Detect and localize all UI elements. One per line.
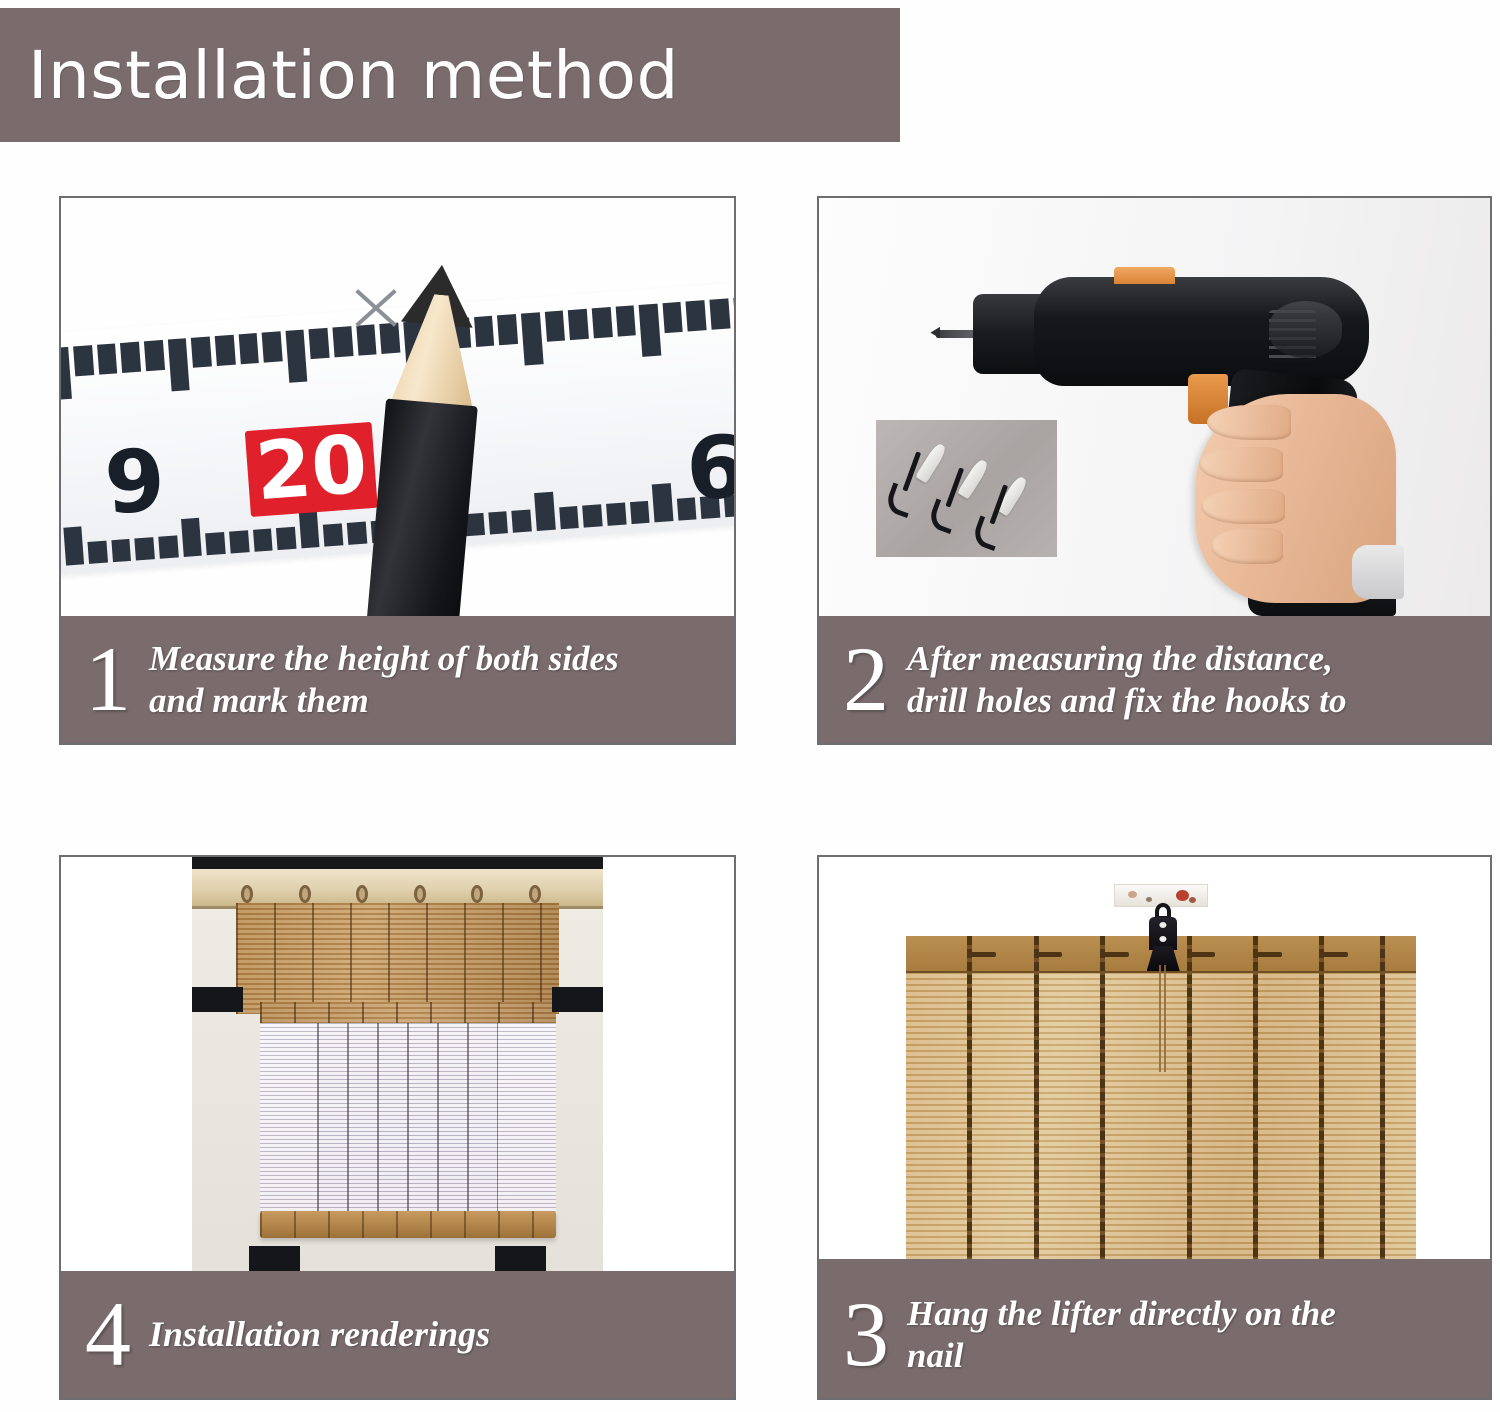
finger: [1199, 447, 1284, 483]
valance-ring: [414, 885, 426, 903]
bamboo-cord-nub: [1322, 952, 1348, 957]
bamboo-cord-nub: [1256, 952, 1282, 957]
step-2-caption-line-1: After measuring the distance,: [907, 638, 1347, 679]
step-3-number: 3: [843, 1292, 889, 1377]
bamboo-cord-nub: [1036, 952, 1062, 957]
step-3-photo-lifter-on-nail: [819, 857, 1490, 1271]
finger: [1207, 405, 1292, 441]
bamboo-cord-nub: [1189, 952, 1215, 957]
tape-measure-scene: 9 20 6: [61, 198, 734, 616]
step-3-caption-bar: 3 Hang the lifter directly on the nail: [819, 1271, 1490, 1398]
drill-orange-top-accent: [1114, 267, 1174, 284]
drill-vents: [1269, 310, 1316, 362]
page-title: Installation method: [0, 37, 679, 114]
lifter-hole: [1160, 936, 1167, 942]
bamboo-cord: [1187, 936, 1192, 1271]
floor-shadow-strip: [819, 1259, 1490, 1271]
step-3-caption-line-2: nail: [907, 1335, 1336, 1376]
reed-blind-bottom-rail: [260, 1211, 556, 1238]
step-1-photo-tape-measure: 9 20 6: [61, 198, 734, 616]
step-card-4: 4 Installation renderings: [59, 855, 736, 1400]
step-4-photo-installed-blind: [61, 857, 734, 1271]
valance-ring: [299, 885, 311, 903]
bamboo-cord: [967, 936, 972, 1271]
hand: [1195, 394, 1396, 603]
drill-body: [1034, 277, 1370, 386]
step-card-3: 3 Hang the lifter directly on the nail: [817, 855, 1492, 1400]
step-card-1: 9 20 6 1 Measure the height of both side…: [59, 196, 736, 745]
lifter-pull-strings: [1159, 965, 1168, 1073]
hooks-and-anchors-inset: [876, 420, 1057, 558]
step-1-number: 1: [85, 637, 131, 722]
step-2-caption-text: After measuring the distance, drill hole…: [907, 638, 1347, 721]
valance-ring: [471, 885, 483, 903]
valance-ring: [356, 885, 368, 903]
lifter-hole: [1160, 922, 1167, 928]
window-frame-block: [192, 987, 242, 1012]
step-3-caption-text: Hang the lifter directly on the nail: [907, 1293, 1336, 1376]
window-frame-block: [552, 987, 602, 1012]
step-card-2: 2 After measuring the distance, drill ho…: [817, 196, 1492, 745]
window-sill-block: [249, 1246, 299, 1271]
reed-blind-upper-section: [236, 903, 559, 1015]
ceiling-shadow: [192, 857, 603, 869]
bamboo-cord: [1380, 936, 1385, 1271]
valance-ring: [529, 885, 541, 903]
tape-number-right: 6: [683, 423, 734, 513]
bamboo-blind-scene: [819, 857, 1490, 1271]
blind-lifter-bracket: [1145, 903, 1181, 969]
bamboo-cord-nub: [970, 952, 996, 957]
room-scene: [61, 857, 734, 1271]
step-4-caption-line-1: Installation renderings: [149, 1313, 490, 1355]
header-banner: Installation method: [0, 8, 900, 142]
blind-backlit-panel: [260, 1023, 317, 1222]
finger: [1201, 489, 1286, 525]
tape-number-highlight: 20: [245, 421, 378, 516]
step-2-number: 2: [843, 637, 889, 722]
step-1-caption-bar: 1 Measure the height of both sides and m…: [61, 616, 734, 743]
window-sill-block: [495, 1246, 545, 1271]
step-1-caption-line-1: Measure the height of both sides: [149, 638, 619, 679]
blind-window-backlight: [317, 1023, 499, 1218]
step-2-caption-line-2: drill holes and fix the hooks to: [907, 680, 1347, 721]
step-1-caption-line-2: and mark them: [149, 680, 619, 721]
step-4-number: 4: [85, 1292, 131, 1377]
step-4-caption-bar: 4 Installation renderings: [61, 1271, 734, 1398]
step-2-photo-drill: [819, 198, 1490, 616]
valance-ring: [241, 885, 253, 903]
step-4-caption-text: Installation renderings: [149, 1313, 490, 1355]
bamboo-cord-nub: [1103, 952, 1129, 957]
bamboo-cord: [1034, 936, 1039, 1271]
step-2-caption-bar: 2 After measuring the distance, drill ho…: [819, 616, 1490, 743]
blind-backlit-panel: [498, 1023, 555, 1222]
bamboo-cord: [1253, 936, 1258, 1271]
drill-scene: [819, 198, 1490, 616]
step-3-caption-line-1: Hang the lifter directly on the: [907, 1293, 1336, 1334]
lifter-plate: [1149, 917, 1177, 950]
step-1-caption-text: Measure the height of both sides and mar…: [149, 638, 619, 721]
finger: [1211, 528, 1283, 564]
bamboo-cord: [1319, 936, 1324, 1271]
tape-number-left: 9: [102, 436, 168, 526]
bamboo-cord: [1100, 936, 1105, 1271]
shirt-cuff: [1352, 545, 1404, 599]
